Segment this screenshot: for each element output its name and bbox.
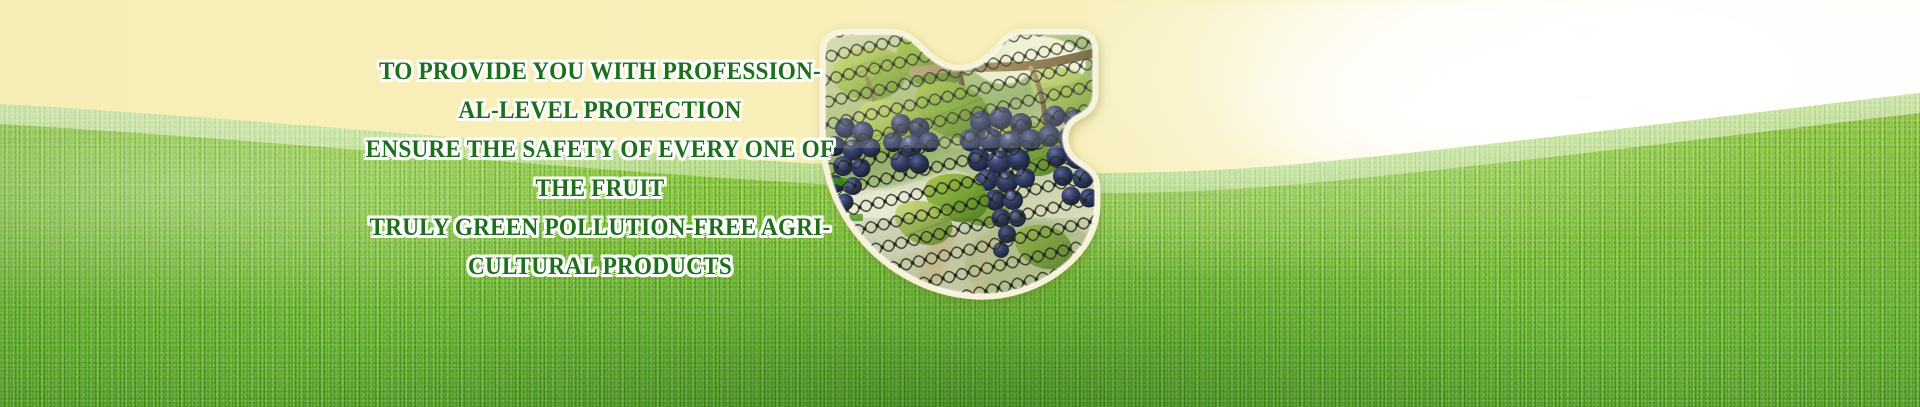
- slogan-block: TO PROVIDE YOU WITH PROFESSION- AL-LEVEL…: [300, 52, 900, 286]
- slogan-line-3: ENSURE THE SAFETY OF EVERY ONE OF: [321, 130, 879, 169]
- slogan-line-2: AL-LEVEL PROTECTION: [321, 91, 879, 130]
- slogan-line-6: CULTURAL PRODUCTS: [321, 247, 879, 286]
- slogan-line-5: TRULY GREEN POLLUTION-FREE AGRI-: [321, 208, 879, 247]
- slogan-line-4: THE FRUIT: [321, 169, 879, 208]
- hero-banner: TO PROVIDE YOU WITH PROFESSION- AL-LEVEL…: [0, 0, 1920, 407]
- slogan-line-1: TO PROVIDE YOU WITH PROFESSION-: [321, 52, 879, 91]
